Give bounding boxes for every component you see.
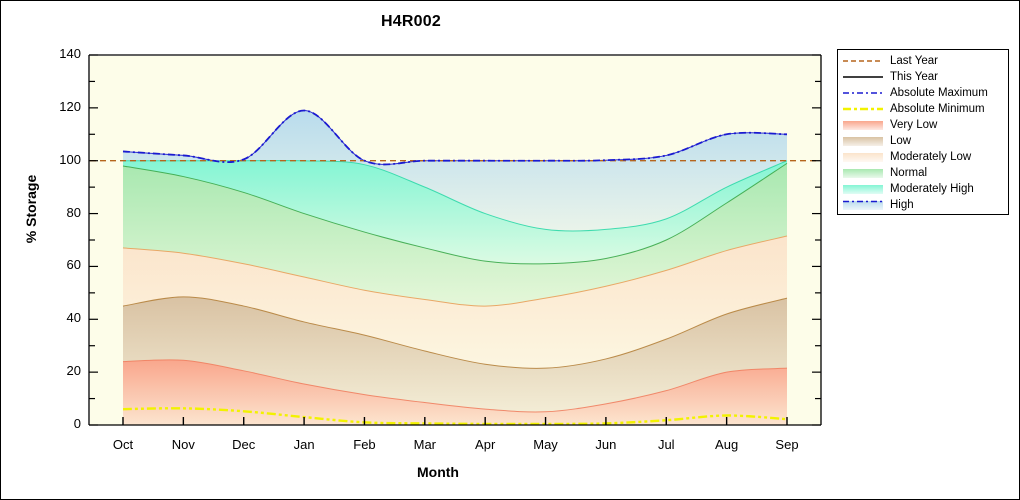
- legend-key-dashed-line-icon: [842, 54, 884, 68]
- legend: Last YearThis YearAbsolute MaximumAbsolu…: [837, 49, 1009, 215]
- legend-item-very-low[interactable]: Very Low: [842, 117, 1004, 133]
- legend-item-absolute-maximum[interactable]: Absolute Maximum: [842, 85, 1004, 101]
- x-tick-label-jul: Jul: [636, 437, 696, 452]
- x-tick-label-dec: Dec: [214, 437, 274, 452]
- legend-item-this-year[interactable]: This Year: [842, 69, 1004, 85]
- y-tick-label: 140: [35, 46, 81, 61]
- legend-key-band-swatch-icon: [842, 118, 884, 132]
- legend-key-solid-line-icon: [842, 70, 884, 84]
- legend-key-band-swatch-icon: [842, 134, 884, 148]
- x-tick-label-jan: Jan: [274, 437, 334, 452]
- legend-item-high[interactable]: High: [842, 197, 1004, 213]
- legend-key-band-swatch-icon: [842, 182, 884, 196]
- legend-label: Absolute Minimum: [890, 102, 985, 116]
- y-tick-label: 0: [35, 416, 81, 431]
- legend-key-band-swatch-icon: [842, 166, 884, 180]
- legend-label: Last Year: [890, 54, 938, 68]
- legend-label: Moderately High: [890, 182, 974, 196]
- x-tick-label-feb: Feb: [334, 437, 394, 452]
- x-tick-label-aug: Aug: [697, 437, 757, 452]
- x-tick-label-apr: Apr: [455, 437, 515, 452]
- legend-item-moderately-low[interactable]: Moderately Low: [842, 149, 1004, 165]
- y-tick-label: 120: [35, 99, 81, 114]
- legend-item-normal[interactable]: Normal: [842, 165, 1004, 181]
- x-tick-label-sep: Sep: [757, 437, 817, 452]
- x-tick-label-jun: Jun: [576, 437, 636, 452]
- legend-item-moderately-high[interactable]: Moderately High: [842, 181, 1004, 197]
- y-tick-label: 40: [35, 310, 81, 325]
- legend-label: Normal: [890, 166, 927, 180]
- legend-key-dash-dot-band-icon: [842, 198, 884, 212]
- y-tick-label: 20: [35, 363, 81, 378]
- legend-item-absolute-minimum[interactable]: Absolute Minimum: [842, 101, 1004, 117]
- legend-key-dash-dot-line-icon: [842, 86, 884, 100]
- legend-item-last-year[interactable]: Last Year: [842, 53, 1004, 69]
- legend-key-band-swatch-icon: [842, 150, 884, 164]
- x-tick-label-oct: Oct: [93, 437, 153, 452]
- y-tick-label: 60: [35, 257, 81, 272]
- x-tick-label-may: May: [516, 437, 576, 452]
- x-tick-label-mar: Mar: [395, 437, 455, 452]
- legend-label: Very Low: [890, 118, 937, 132]
- legend-label: This Year: [890, 70, 938, 84]
- chart-window: H4R002 % Storage Month Last YearThis Yea…: [0, 0, 1020, 500]
- legend-label: Low: [890, 134, 911, 148]
- y-tick-label: 80: [35, 205, 81, 220]
- legend-item-low[interactable]: Low: [842, 133, 1004, 149]
- x-tick-label-nov: Nov: [153, 437, 213, 452]
- legend-label: High: [890, 198, 914, 212]
- legend-key-dash-dot-dot-line-icon: [842, 102, 884, 116]
- y-tick-label: 100: [35, 152, 81, 167]
- legend-label: Moderately Low: [890, 150, 971, 164]
- legend-label: Absolute Maximum: [890, 86, 988, 100]
